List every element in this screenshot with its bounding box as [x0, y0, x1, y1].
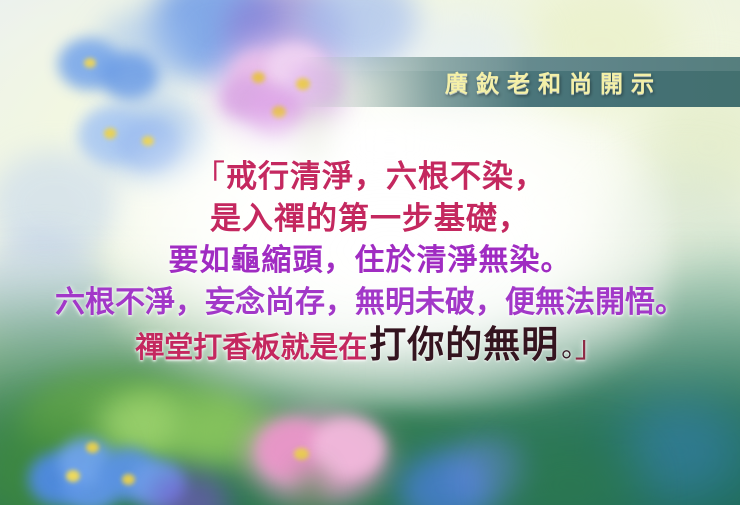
flower-center: [86, 442, 99, 453]
open-bracket: 「: [194, 159, 226, 195]
flower-center: [272, 106, 286, 118]
quote-line-1-text: 戒行清淨，六根不染，: [226, 159, 546, 195]
quote-line-2-text: 是入禪的第一步基礎，: [210, 201, 530, 237]
quote-line-2: 是入禪的第一步基礎，: [0, 204, 740, 236]
quote-block: 「戒行清淨，六根不染， 是入禪的第一步基礎， 要如龜縮頭，住於清淨無染。 六根不…: [0, 162, 740, 364]
quote-line-3-text: 要如龜縮頭，住於清淨無染。: [169, 243, 572, 278]
flower-center: [66, 470, 80, 482]
flower-center: [84, 58, 96, 68]
quote-line-4-text: 六根不淨，妄念尚存，無明未破，便無法開悟。: [55, 285, 685, 320]
flower-center: [294, 448, 309, 460]
flower-center: [122, 474, 135, 485]
pink-flower-petal: [312, 418, 384, 476]
quote-line-5-prefix: 禪堂打香板就是在: [135, 330, 367, 364]
greeting-card: 廣欽老和尚開示 「戒行清淨，六根不染， 是入禪的第一步基礎， 要如龜縮頭，住於清…: [0, 0, 740, 505]
quote-line-5: 禪堂打香板就是在打你的無明。」: [0, 326, 740, 364]
close-bracket: 」: [575, 330, 605, 365]
quote-line-3: 要如龜縮頭，住於清淨無染。: [0, 246, 740, 277]
quote-emphasis: 打你的無明: [367, 322, 561, 366]
stem-blur: [300, 468, 322, 505]
flower-center: [252, 72, 265, 83]
banner-title: 廣欽老和尚開示: [445, 64, 662, 98]
quote-line-4: 六根不淨，妄念尚存，無明未破，便無法開悟。: [0, 288, 740, 319]
quote-line-1: 「戒行清淨，六根不染，: [0, 162, 740, 194]
blue-flower-petal: [100, 52, 158, 100]
header-banner: 廣欽老和尚開示: [300, 57, 740, 107]
quote-period: 。: [561, 333, 575, 364]
